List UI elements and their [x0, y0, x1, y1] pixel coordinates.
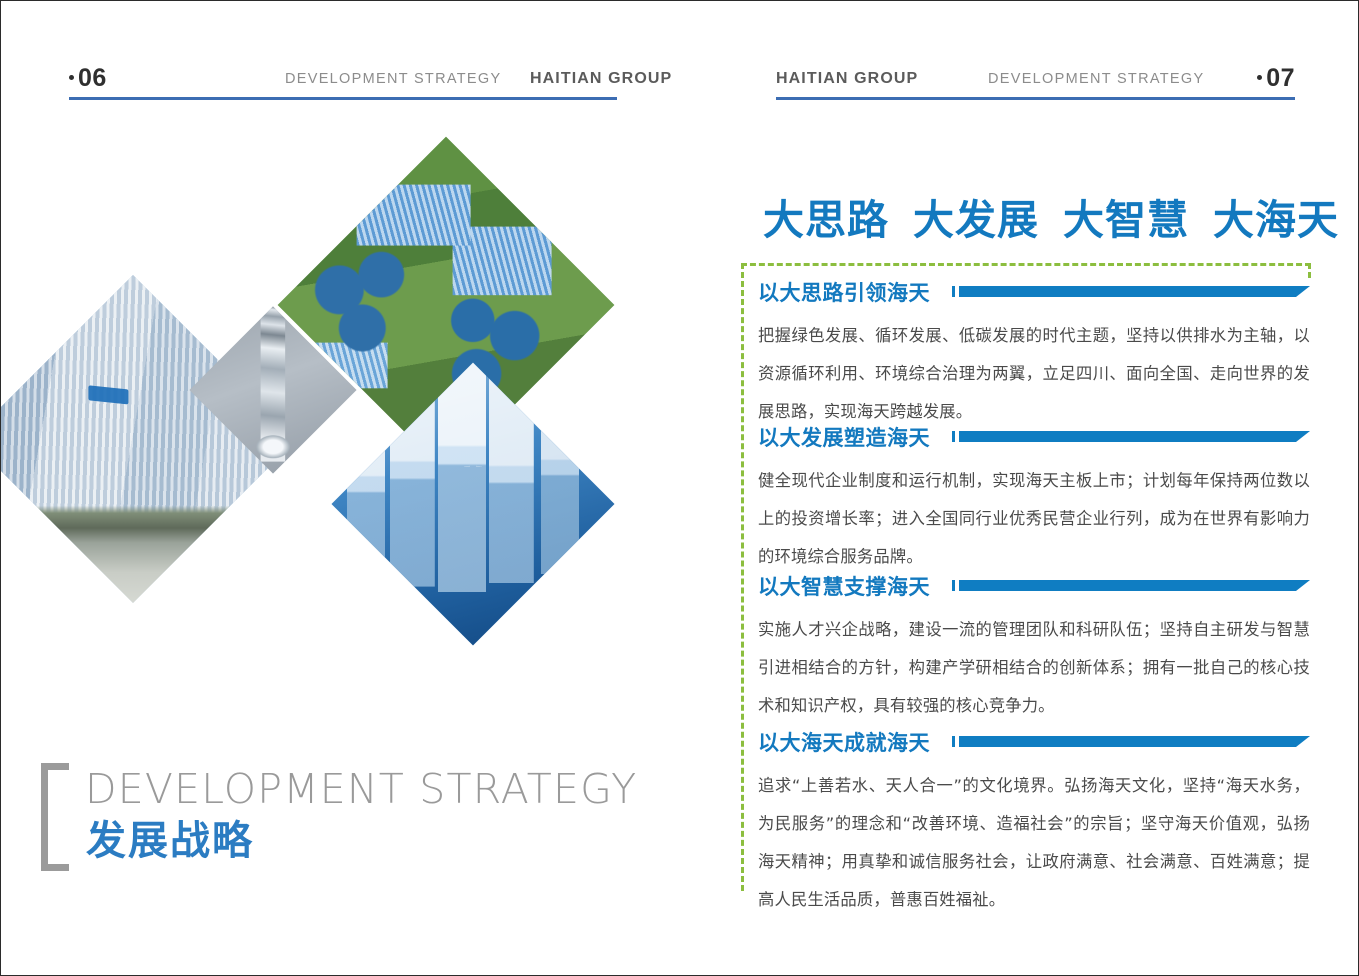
strategy-section-2-header: 以大智慧支撑海天	[758, 573, 1310, 603]
left-page-number: 06	[69, 63, 107, 93]
strategy-section-2-bar-decoration	[952, 580, 1310, 591]
main-title-part-1: 大发展	[913, 196, 1039, 244]
left-header-rule	[69, 97, 617, 100]
strategy-section-3: 以大海天成就海天 追求“上善若水、天人合一”的文化境界。弘扬海天文化，坚持“海天…	[758, 729, 1310, 919]
right-page-main-title: 大思路大发展大智慧大海天	[763, 194, 1339, 246]
right-header-brand: HAITIAN GROUP	[776, 68, 918, 90]
main-title-part-0: 大思路	[763, 196, 889, 244]
bar-arrow-icon	[959, 580, 1310, 591]
strategy-section-0-header: 以大思路引领海天	[758, 279, 1310, 309]
main-title-part-2: 大智慧	[1063, 196, 1189, 244]
haitian-logo-on-building-icon	[88, 385, 128, 404]
strategy-section-2-body: 实施人才兴企战略，建设一流的管理团队和科研队伍；坚持自主研发与智慧引进相结合的方…	[758, 611, 1310, 725]
strategy-section-2-heading: 以大智慧支撑海天	[758, 573, 930, 601]
strategy-section-1-heading: 以大发展塑造海天	[758, 424, 930, 452]
bracket-decoration-icon	[41, 763, 69, 871]
right-page-number: 07	[1257, 63, 1295, 93]
right-header-section-label: DEVELOPMENT STRATEGY	[988, 69, 1204, 89]
strategy-section-0: 以大思路引领海天 把握绿色发展、循环发展、低碳发展的时代主题，坚持以供排水为主轴…	[758, 279, 1310, 431]
left-header-section-label: DEVELOPMENT STRATEGY	[285, 69, 501, 89]
main-title-part-3: 大海天	[1213, 196, 1339, 244]
strategy-section-1-body: 健全现代企业制度和运行机制，实现海天主板上市；计划每年保持两位数以上的投资增长率…	[758, 462, 1310, 576]
laboratory-beakers-image	[332, 363, 615, 646]
left-page-header: 06 DEVELOPMENT STRATEGY HAITIAN GROUP	[69, 63, 617, 99]
laboratory-beakers-photo	[332, 363, 615, 646]
page-title-chinese: 发展战略	[86, 814, 254, 868]
strategy-section-1-header: 以大发展塑造海天	[758, 424, 1310, 454]
strategy-section-0-body: 把握绿色发展、循环发展、低碳发展的时代主题，坚持以供排水为主轴，以资源循环利用、…	[758, 317, 1310, 431]
brochure-spread: 06 DEVELOPMENT STRATEGY HAITIAN GROUP HA…	[0, 0, 1359, 976]
bar-arrow-icon	[959, 431, 1310, 442]
bar-arrow-icon	[959, 286, 1310, 297]
page-number-dot-icon	[1257, 75, 1262, 80]
bar-tick-icon	[952, 580, 955, 591]
strategy-section-2: 以大智慧支撑海天 实施人才兴企战略，建设一流的管理团队和科研队伍；坚持自主研发与…	[758, 573, 1310, 725]
page-number-dot-icon	[69, 75, 74, 80]
left-page-number-value: 06	[78, 64, 107, 92]
right-header-rule	[776, 97, 1295, 100]
strategy-section-3-header: 以大海天成就海天	[758, 729, 1310, 759]
page-title-english: DEVELOPMENT STRATEGY	[85, 764, 637, 814]
bar-tick-icon	[952, 736, 955, 747]
left-header-brand: HAITIAN GROUP	[530, 68, 672, 90]
strategy-section-3-bar-decoration	[952, 736, 1310, 747]
bar-tick-icon	[952, 286, 955, 297]
strategy-section-0-heading: 以大思路引领海天	[758, 279, 930, 307]
strategy-section-0-bar-decoration	[952, 286, 1310, 297]
bar-arrow-icon	[959, 736, 1310, 747]
right-page-number-value: 07	[1266, 64, 1295, 92]
strategy-section-3-body: 追求“上善若水、天人合一”的文化境界。弘扬海天文化，坚持“海天水务，为民服务”的…	[758, 767, 1310, 919]
strategy-section-1-bar-decoration	[952, 431, 1310, 442]
bar-tick-icon	[952, 431, 955, 442]
strategy-section-1: 以大发展塑造海天 健全现代企业制度和运行机制，实现海天主板上市；计划每年保持两位…	[758, 424, 1310, 576]
right-page-header: HAITIAN GROUP DEVELOPMENT STRATEGY 07	[776, 63, 1295, 99]
strategy-section-3-heading: 以大海天成就海天	[758, 729, 930, 757]
